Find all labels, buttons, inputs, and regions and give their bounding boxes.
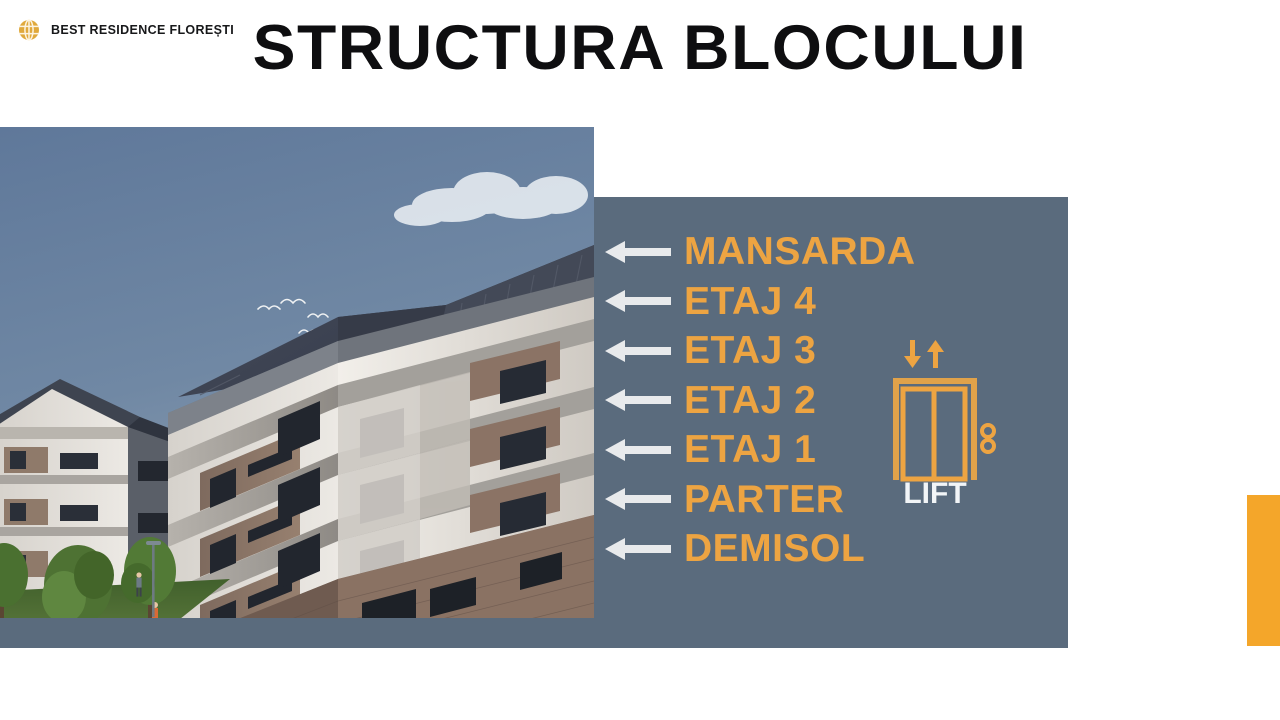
floor-label: MANSARDA (684, 232, 916, 271)
arrow-left-icon (605, 387, 671, 413)
floor-label: ETAJ 3 (684, 331, 816, 370)
elevator-icon: LIFT (885, 334, 1013, 506)
lift-label: LIFT (903, 477, 966, 506)
floor-label: DEMISOL (684, 529, 865, 568)
arrow-left-icon (605, 437, 671, 463)
slide-root: BEST RESIDENCE FLOREȘTI STRUCTURA BLOCUL… (0, 0, 1280, 720)
render-illustration (0, 127, 594, 618)
floor-row[interactable]: ETAJ 4 (605, 277, 1065, 327)
arrow-up-icon (927, 340, 944, 368)
building-render-image (0, 127, 594, 618)
floor-label: ETAJ 4 (684, 282, 816, 321)
floor-label: ETAJ 1 (684, 430, 816, 469)
page-title: STRUCTURA BLOCULUI (0, 17, 1280, 80)
arrow-left-icon (605, 288, 671, 314)
arrow-left-icon (605, 338, 671, 364)
arrow-down-icon (904, 340, 921, 368)
arrow-left-icon (605, 486, 671, 512)
arrow-left-icon (605, 536, 671, 562)
floor-row[interactable]: DEMISOL (605, 524, 1065, 574)
floor-label: ETAJ 2 (684, 381, 816, 420)
accent-bar (1247, 495, 1280, 646)
arrow-left-icon (605, 239, 671, 265)
floor-row[interactable]: MANSARDA (605, 227, 1065, 277)
floor-structure-panel: MANSARDA ETAJ 4 ETAJ 3 ETAJ 2 (594, 197, 1068, 648)
lift-indicator: LIFT (885, 334, 1013, 506)
floor-label: PARTER (684, 480, 844, 519)
